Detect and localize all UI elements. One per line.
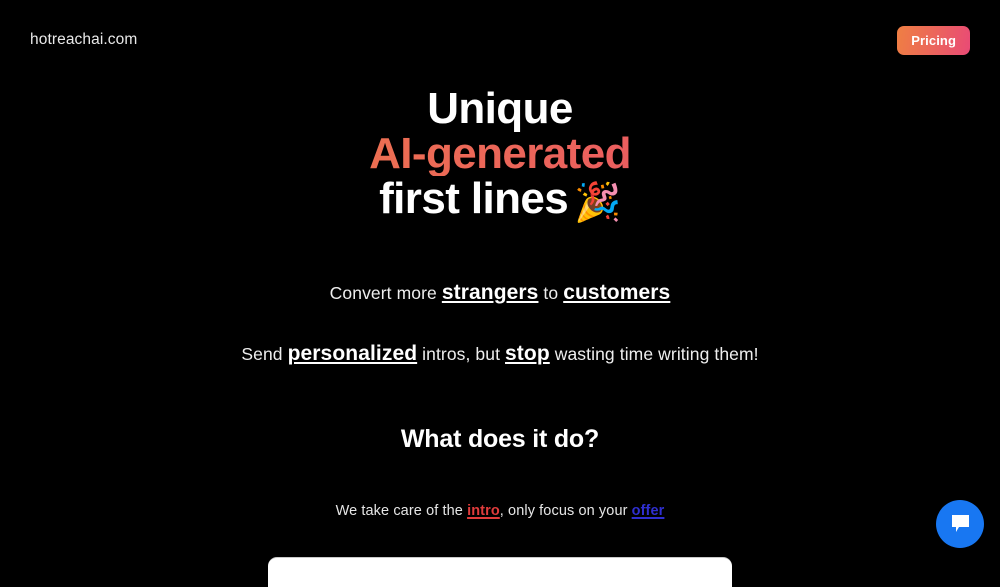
subheading-1-text-2: to [538,283,563,303]
section-subtitle-text-2: , only focus on your [500,503,632,519]
subheading-line-2: Send personalized intros, but stop wasti… [0,342,1000,366]
top-navigation-bar: hotreachai.com Pricing [0,0,1000,80]
hero-line-3-text: first lines [379,174,568,223]
pricing-button[interactable]: Pricing [897,26,970,55]
link-intro[interactable]: intro [467,503,500,519]
subheading-2-text-1: Send [241,344,287,364]
section-subtitle-text-1: We take care of the [336,503,468,519]
content-panel-top-edge [268,557,732,587]
subheading-line-1: Convert more strangers to customers [0,281,1000,305]
hero-line-3: first lines🎉 [0,176,1000,226]
subheading-2-emphasis-stop: stop [505,342,550,365]
link-offer[interactable]: offer [632,503,665,519]
chat-bubble-icon [948,511,972,538]
subheading-2-emphasis-personalized: personalized [288,342,418,365]
hero-heading: Unique AI-generated first lines🎉 [0,86,1000,226]
subheading-2-text-2: intros, but [417,344,505,364]
subheading-1-emphasis-strangers: strangers [442,281,539,304]
section-title-what-does-it-do: What does it do? [0,425,1000,454]
chat-widget-button[interactable] [936,500,984,548]
subheading-1-emphasis-customers: customers [563,281,670,304]
hero-line-2-gradient: AI-generated [0,131,1000,176]
subheading-1-text-1: Convert more [330,283,442,303]
brand-logo-text[interactable]: hotreachai.com [30,31,137,49]
party-popper-icon: 🎉 [574,182,621,224]
section-subtitle: We take care of the intro, only focus on… [0,503,1000,519]
subheading-2-text-3: wasting time writing them! [550,344,759,364]
hero-line-1: Unique [0,86,1000,131]
